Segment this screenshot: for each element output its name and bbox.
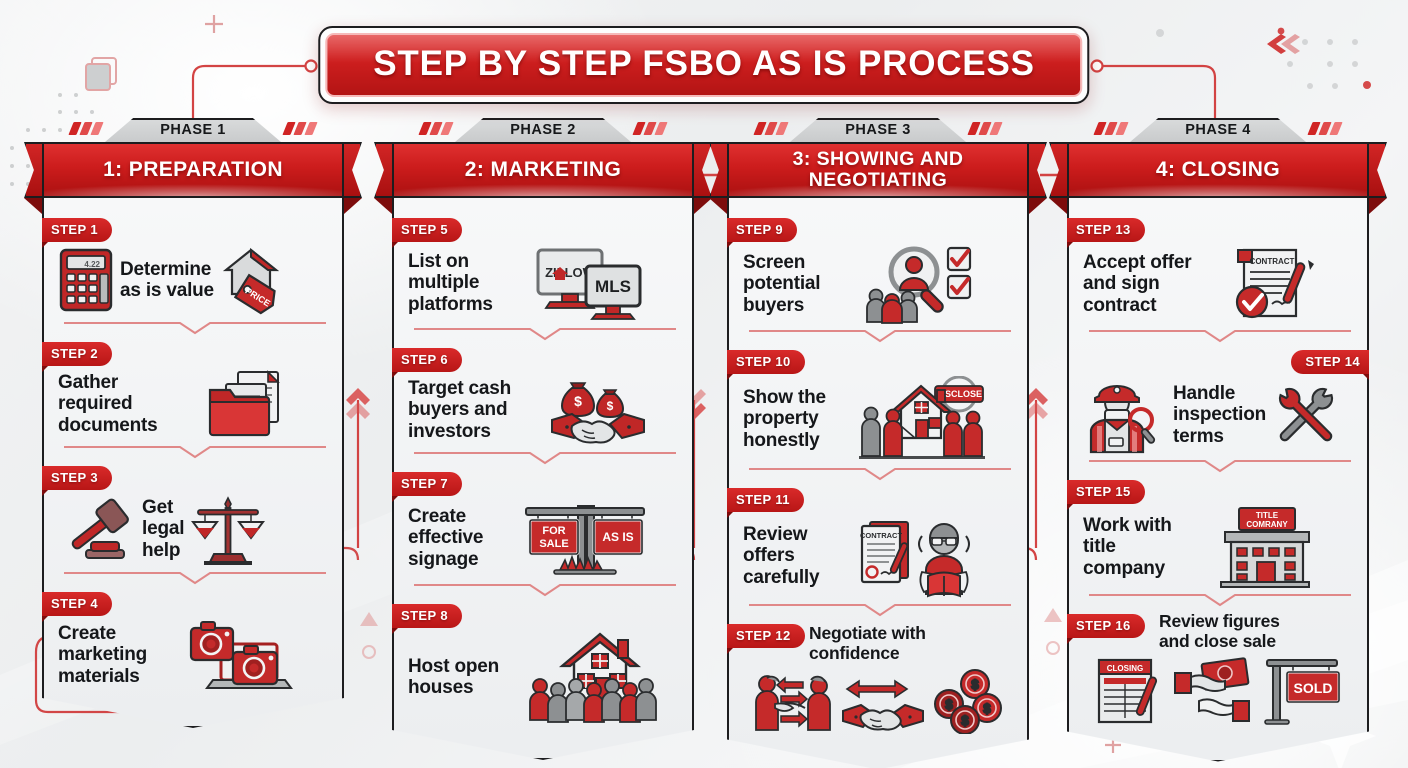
phase-header-line-1: 3: SHOWING AND — [793, 149, 964, 170]
step-content: Target cashbuyers andinvestors $ — [408, 374, 678, 446]
ribbon-fold-right — [694, 198, 712, 214]
svg-text:MLS: MLS — [595, 277, 631, 296]
ribbon-fold-right — [1029, 198, 1047, 214]
step-divider — [410, 582, 676, 598]
sold-sign-icon: SOLD — [1263, 654, 1343, 726]
phase-tab-2: PHASE 2 — [392, 118, 694, 142]
step-content: Host openhouses — [408, 630, 678, 724]
step-content: $ $ $ $ — [743, 668, 1013, 734]
phase-header-body: 2: MARKETING — [392, 142, 694, 198]
step-badge: STEP 8 — [389, 604, 462, 628]
monitor-zillow-mls-icon: ZILLOW MLS — [499, 244, 678, 322]
svg-text:$: $ — [971, 677, 979, 692]
calculator-icon: 4.22 — [58, 247, 114, 313]
step-content: Screenpotentialbuyers — [743, 244, 1013, 324]
magnifier-person-checklist-icon — [826, 244, 1013, 324]
phase-header-1: 1: PREPARATION — [42, 142, 344, 198]
step-divider — [745, 602, 1011, 618]
phase-header-3: 3: SHOWING AND NEGOTIATING — [727, 142, 1029, 198]
step-content: Show thepropertyhonestly DISCLOSE — [743, 376, 1013, 462]
step-title: Screenpotentialbuyers — [743, 252, 820, 316]
phase-header-line-2: NEGOTIATING — [793, 170, 964, 191]
step-divider — [745, 466, 1011, 482]
svg-text:CONTRACT: CONTRACT — [860, 531, 902, 540]
svg-text:SOLD: SOLD — [1294, 680, 1333, 696]
step-13[interactable]: STEP 13 Accept offerand signcontract CON… — [1083, 214, 1353, 344]
step-title: Handleinspectionterms — [1173, 383, 1266, 447]
step-divider — [1085, 592, 1351, 608]
step-content: Work withtitlecompany TITLE COMRANY — [1083, 506, 1353, 588]
step-6[interactable]: STEP 6 Target cashbuyers andinvestors $ — [408, 344, 678, 466]
svg-text:FOR: FOR — [542, 525, 565, 537]
svg-text:$: $ — [961, 713, 969, 728]
dot-2-active — [189, 739, 198, 748]
house-tour-disclose-icon: DISCLOSE — [832, 376, 1013, 462]
infographic-title: STEP BY STEP FSBO AS IS PROCESS — [318, 26, 1089, 104]
step-title: Negotiate withconfidence — [809, 624, 1013, 664]
step-7[interactable]: STEP 7 Createeffectivesignage FOR SALE — [408, 468, 678, 598]
cash-handoff-icon — [1173, 657, 1257, 723]
step-2[interactable]: STEP 2 Gatherrequireddocuments — [58, 338, 328, 460]
phase-tab-4: PHASE 4 — [1067, 118, 1369, 142]
step-title: Review figuresand close sale — [1159, 612, 1353, 652]
step-badge: STEP 11 — [724, 488, 804, 512]
step-16[interactable]: STEP 16 Review figuresand close sale CLO… — [1083, 610, 1353, 726]
tab-slashes-right-icon — [970, 122, 1000, 135]
step-title: List onmultipleplatforms — [408, 251, 493, 315]
contract-pen-reading-icon: CONTRACT — [825, 514, 1013, 598]
step-divider — [60, 320, 326, 336]
wrench-tools-icon — [1272, 381, 1340, 449]
tab-slashes-left-icon — [756, 122, 786, 135]
tab-slashes-right-icon — [1310, 122, 1340, 135]
step-content: Handleinspectionterms — [1083, 374, 1353, 454]
step-15[interactable]: STEP 15 Work withtitlecompany TITLE COMR… — [1083, 476, 1353, 608]
phase-column-4: PHASE 4 4: CLOSING STEP 13 Accept offera… — [1067, 118, 1369, 762]
step-1[interactable]: STEP 1 4.22 — [58, 214, 328, 336]
phase-header-body: 3: SHOWING AND NEGOTIATING — [727, 142, 1029, 198]
phase-card-1: STEP 1 4.22 — [42, 198, 344, 728]
step-content: Accept offerand signcontract CONTRACT — [1083, 244, 1353, 324]
phase-header-text: 2: MARKETING — [465, 159, 621, 182]
step-4[interactable]: STEP 4 Createmarketingmaterials — [58, 588, 328, 692]
inspector-icon — [1083, 376, 1167, 454]
closing-statement-icon: CLOSING — [1093, 654, 1167, 726]
step-divider — [745, 328, 1011, 344]
ribbon-fold-left — [24, 198, 42, 214]
step-content: Reviewofferscarefully CONTRACT — [743, 514, 1013, 598]
phase-column-3: PHASE 3 3: SHOWING AND NEGOTIATING STEP … — [727, 118, 1029, 768]
phase-header-text: 3: SHOWING AND NEGOTIATING — [793, 149, 964, 191]
step-title: Reviewofferscarefully — [743, 524, 819, 588]
title-company-building-icon: TITLE COMRANY — [1178, 506, 1353, 588]
phase-header-4: 4: CLOSING — [1067, 142, 1369, 198]
step-content: Getlegalhelp — [58, 492, 328, 566]
step-9[interactable]: STEP 9 Screenpotentialbuyers — [743, 214, 1013, 344]
step-8[interactable]: STEP 8 Host openhouses — [408, 600, 678, 724]
two-people-exchange-icon — [753, 668, 835, 734]
phase-header-text: 4: CLOSING — [1156, 159, 1280, 182]
phase-columns: PHASE 1 1: PREPARATION STEP 1 — [0, 0, 1408, 768]
step-content: Gatherrequireddocuments — [58, 368, 328, 440]
step-divider — [410, 326, 676, 342]
svg-text:$: $ — [945, 697, 953, 712]
step-title: Work withtitlecompany — [1083, 515, 1172, 579]
svg-text:CONTRACT: CONTRACT — [1250, 257, 1295, 266]
ribbon-fold-left — [374, 198, 392, 214]
step-content: CLOSING — [1083, 654, 1353, 726]
scales-of-justice-icon — [190, 492, 266, 566]
dot-1 — [171, 739, 180, 748]
svg-text:TITLE: TITLE — [1256, 511, 1279, 520]
svg-text:4.22: 4.22 — [84, 260, 100, 269]
phase-tab-label: PHASE 1 — [160, 122, 226, 138]
tab-slashes-right-icon — [285, 122, 315, 135]
step-badge: STEP 12 — [724, 624, 805, 648]
step-divider — [1085, 458, 1351, 474]
step-badge: STEP 10 — [724, 350, 805, 374]
coins-icon: $ $ $ $ — [931, 668, 1003, 734]
step-content: Createeffectivesignage FOR SALE — [408, 498, 678, 578]
phase-header-body: 4: CLOSING — [1067, 142, 1369, 198]
step-title: Determineas is value — [120, 259, 214, 302]
tab-slashes-right-icon — [635, 122, 665, 135]
phase-tab-label: PHASE 4 — [1185, 122, 1251, 138]
step-content: 4.22 Determineas is — [58, 244, 328, 316]
step-content: Createmarketingmaterials — [58, 618, 328, 692]
svg-text:COMRANY: COMRANY — [1247, 520, 1289, 529]
step-badge: STEP 3 — [39, 466, 112, 490]
step-badge: STEP 9 — [724, 218, 797, 242]
step-badge: STEP 4 — [39, 592, 112, 616]
phase-tab-label: PHASE 3 — [845, 122, 911, 138]
phase-header-2: 2: MARKETING — [392, 142, 694, 198]
tab-slashes-left-icon — [71, 122, 101, 135]
handshake-arrows-icon — [841, 669, 925, 733]
gavel-icon — [58, 494, 136, 564]
house-crowd-icon — [505, 630, 678, 724]
title-text: STEP BY STEP FSBO AS IS PROCESS — [373, 44, 1034, 84]
tab-slashes-left-icon — [421, 122, 451, 135]
card-pagination-dots — [171, 739, 216, 748]
step-badge: STEP 14 — [1291, 350, 1372, 374]
step-divider — [60, 444, 326, 460]
step-content: List onmultipleplatforms ZILLOW MLS — [408, 244, 678, 322]
step-title: Getlegalhelp — [142, 497, 184, 561]
yard-sign-icon: FOR SALE AS IS — [489, 498, 678, 578]
step-title: Createeffectivesignage — [408, 506, 483, 570]
phase-column-1: PHASE 1 1: PREPARATION STEP 1 — [42, 118, 344, 728]
svg-text:$: $ — [983, 701, 991, 716]
step-badge: STEP 1 — [39, 218, 112, 242]
step-badge: STEP 7 — [389, 472, 462, 496]
title-frame-outer: STEP BY STEP FSBO AS IS PROCESS — [318, 26, 1089, 104]
title-frame-inner: STEP BY STEP FSBO AS IS PROCESS — [325, 33, 1082, 97]
phase-tab-1: PHASE 1 — [42, 118, 344, 142]
tab-slashes-left-icon — [1096, 122, 1126, 135]
svg-text:CLOSING: CLOSING — [1107, 664, 1143, 673]
dot-3 — [207, 739, 216, 748]
house-price-tag-icon: PRICE — [220, 244, 282, 316]
step-title: Createmarketingmaterials — [58, 623, 147, 687]
step-10[interactable]: STEP 10 Show thepropertyhonestly DISCLOS… — [743, 346, 1013, 482]
step-badge: STEP 6 — [389, 348, 462, 372]
step-badge: STEP 16 — [1064, 614, 1145, 638]
step-badge: STEP 2 — [39, 342, 112, 366]
ribbon-fold-left — [1049, 198, 1067, 214]
step-title: Gatherrequireddocuments — [58, 372, 158, 436]
step-badge: STEP 5 — [389, 218, 462, 242]
step-3[interactable]: STEP 3 Getlegalhelp — [58, 462, 328, 586]
phase-column-2: PHASE 2 2: MARKETING STEP 5 List onmulti… — [392, 118, 694, 760]
ribbon-fold-right — [344, 198, 362, 214]
step-14[interactable]: STEP 14 — [1083, 346, 1353, 474]
step-divider — [410, 450, 676, 466]
step-title: Show thepropertyhonestly — [743, 387, 826, 451]
money-bags-handshake-icon: $ $ — [517, 374, 678, 446]
svg-text:$: $ — [606, 399, 613, 413]
step-title: Target cashbuyers andinvestors — [408, 378, 511, 442]
phase-tab-label: PHASE 2 — [510, 122, 576, 138]
phase-header-text: 1: PREPARATION — [103, 159, 283, 182]
phase-header-body: 1: PREPARATION — [42, 142, 344, 198]
step-5[interactable]: STEP 5 List onmultipleplatforms ZILLOW M… — [408, 214, 678, 342]
phase-card-2: STEP 5 List onmultipleplatforms ZILLOW M… — [392, 198, 694, 760]
step-badge: STEP 13 — [1064, 218, 1145, 242]
svg-text:$: $ — [574, 393, 582, 409]
folder-documents-icon — [164, 368, 328, 440]
contract-signed-check-icon: CONTRACT — [1197, 244, 1353, 324]
step-12[interactable]: STEP 12 Negotiate withconfidence — [743, 620, 1013, 734]
step-11[interactable]: STEP 11 Reviewofferscarefully CONTRACT — [743, 484, 1013, 618]
phase-tab-3: PHASE 3 — [727, 118, 1029, 142]
step-divider — [60, 570, 326, 586]
step-divider — [1085, 328, 1351, 344]
camera-laptop-icon — [153, 618, 328, 692]
step-title: Accept offerand signcontract — [1083, 252, 1191, 316]
svg-text:AS IS: AS IS — [602, 530, 633, 544]
step-title: Host openhouses — [408, 656, 499, 699]
ribbon-fold-left — [709, 198, 727, 214]
ribbon-fold-right — [1369, 198, 1387, 214]
phase-card-4: STEP 13 Accept offerand signcontract CON… — [1067, 198, 1369, 762]
step-badge: STEP 15 — [1064, 480, 1145, 504]
phase-card-3: STEP 9 Screenpotentialbuyers — [727, 198, 1029, 768]
svg-text:SALE: SALE — [539, 538, 568, 550]
